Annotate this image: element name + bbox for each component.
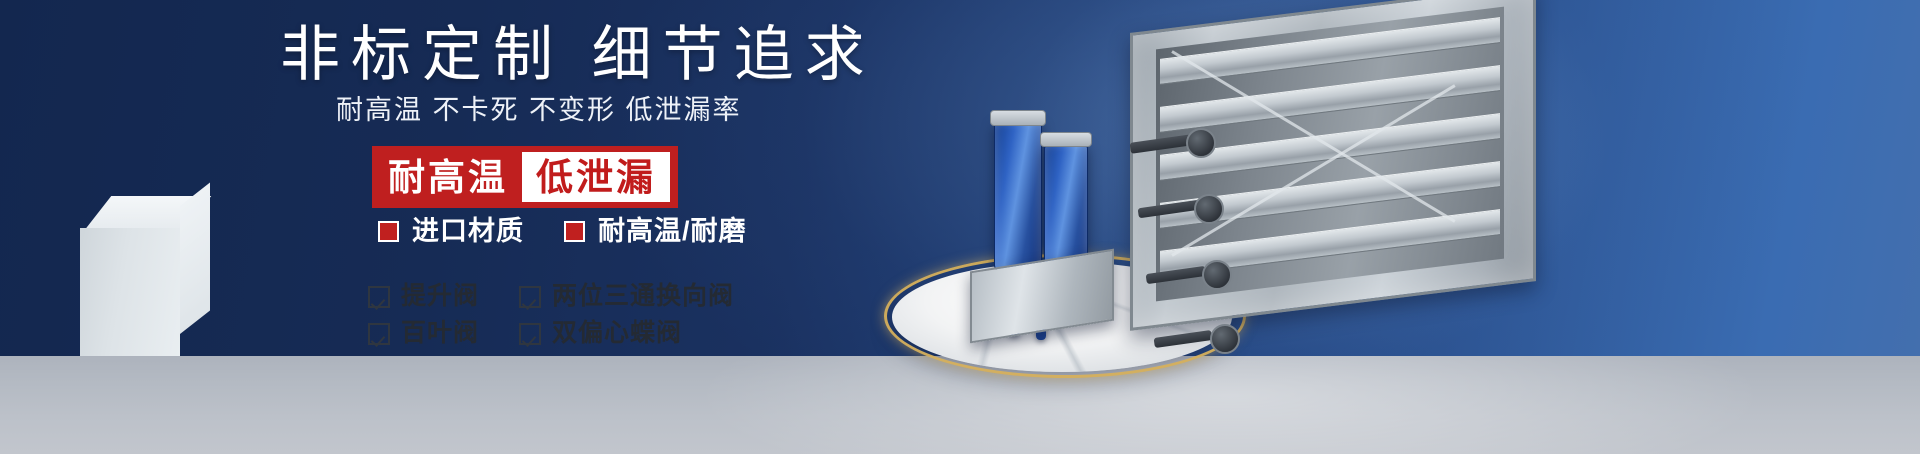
checkbox-checked-icon bbox=[519, 323, 541, 345]
checklist-label: 百叶阀 bbox=[401, 321, 479, 346]
checklist-label: 两位三通换向阀 bbox=[552, 284, 734, 309]
feature-label: 进口材质 bbox=[412, 218, 524, 245]
list-item: 提升阀 bbox=[368, 284, 479, 309]
promo-banner: 非标定制 细节追求 耐高温 不卡死 不变形 低泄漏率 耐高温 低泄漏 进口材质 … bbox=[0, 0, 1920, 454]
badge-label-heat-resistant: 耐高温 bbox=[386, 152, 522, 202]
cube-side-face bbox=[180, 183, 210, 334]
louvre-damper-assembly bbox=[1130, 8, 1550, 308]
cylinder-cap bbox=[990, 110, 1046, 126]
page-subtitle: 耐高温 不卡死 不变形 低泄漏率 bbox=[336, 92, 936, 128]
feature-item: 耐高温/耐磨 bbox=[564, 218, 747, 245]
list-item: 双偏心蝶阀 bbox=[519, 321, 734, 346]
pneumatic-actuator bbox=[988, 120, 1120, 320]
product-image bbox=[880, 0, 1920, 454]
list-item: 百叶阀 bbox=[368, 321, 479, 346]
red-square-icon bbox=[564, 221, 585, 242]
pivot-joint bbox=[1210, 324, 1240, 354]
checklist-label: 双偏心蝶阀 bbox=[552, 321, 682, 346]
feature-list: 进口材质 耐高温/耐磨 bbox=[378, 218, 747, 245]
actuator-cylinder bbox=[994, 120, 1042, 272]
badge-label-low-leakage: 低泄漏 bbox=[522, 152, 670, 202]
checklist-label: 提升阀 bbox=[401, 284, 479, 309]
cylinder-cap bbox=[1040, 132, 1092, 147]
pivot-joint bbox=[1186, 128, 1216, 158]
product-checklist: 提升阀 两位三通换向阀 百叶阀 双偏心蝶阀 bbox=[368, 284, 734, 346]
feature-item: 进口材质 bbox=[378, 218, 524, 245]
pivot-joint bbox=[1202, 260, 1232, 290]
checkbox-checked-icon bbox=[368, 323, 390, 345]
pivot-joint bbox=[1194, 194, 1224, 224]
list-item: 两位三通换向阀 bbox=[519, 284, 734, 309]
red-square-icon bbox=[378, 221, 399, 242]
checkbox-checked-icon bbox=[519, 286, 541, 308]
feature-label: 耐高温/耐磨 bbox=[598, 218, 747, 245]
cube-front-face bbox=[80, 228, 180, 356]
page-title: 非标定制 细节追求 bbox=[280, 18, 900, 92]
checkbox-checked-icon bbox=[368, 286, 390, 308]
status-badge: 耐高温 低泄漏 bbox=[372, 146, 678, 208]
white-cube-graphic bbox=[62, 196, 222, 356]
